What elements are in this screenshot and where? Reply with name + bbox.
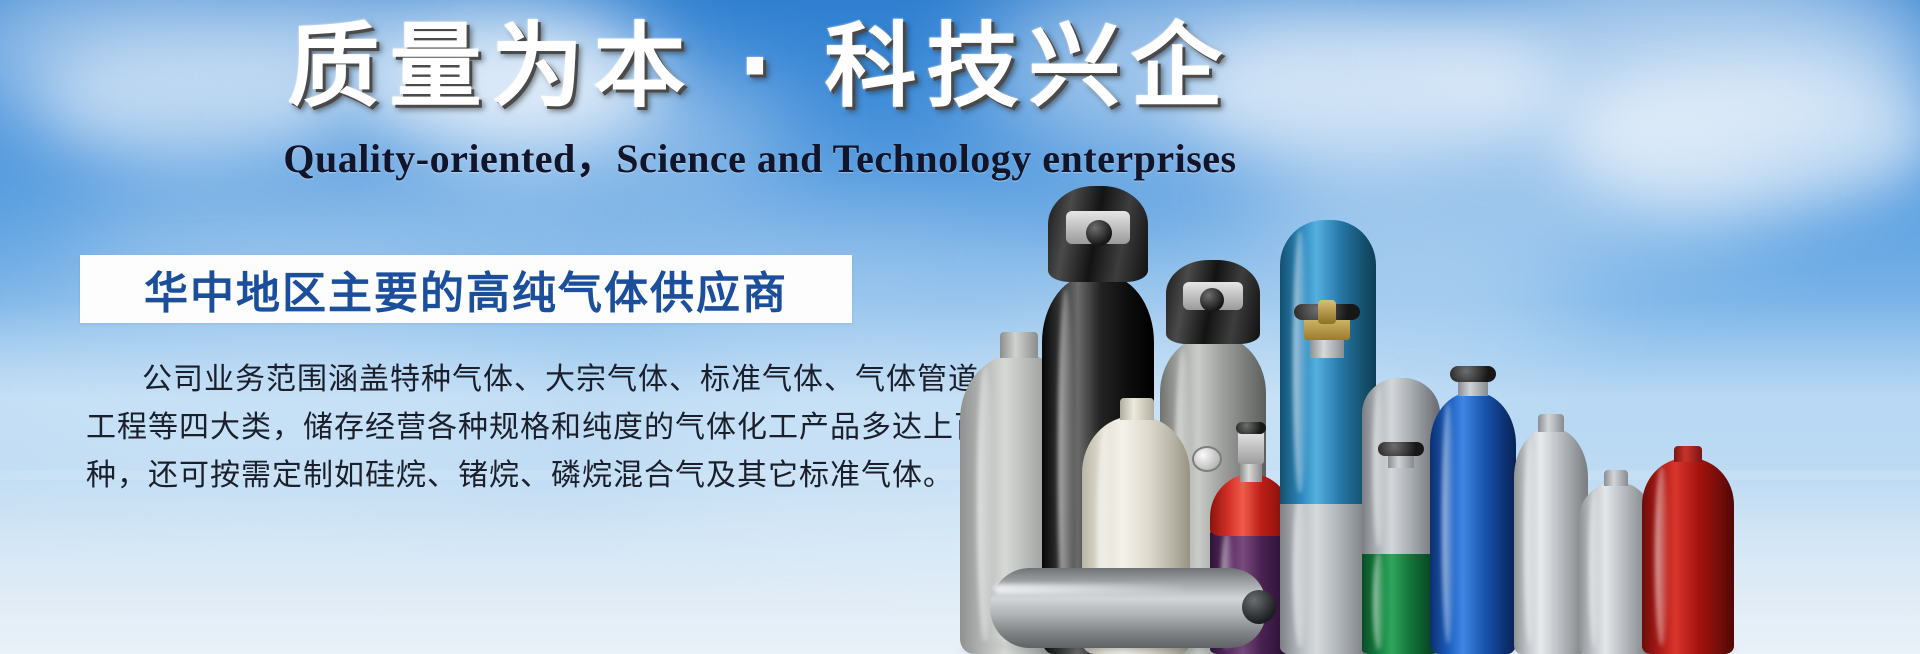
gas-cylinder-group bbox=[930, 0, 1920, 654]
highlight-tagline: 华中地区主要的高纯气体供应商 bbox=[144, 257, 788, 321]
cylinder-aluminium-a bbox=[1514, 408, 1588, 654]
cylinder-red-large bbox=[1642, 442, 1734, 654]
cylinder-green-small bbox=[1362, 444, 1440, 654]
description-line-1: 公司业务范围涵盖特种气体、大宗气体、标准气体、气体管道 bbox=[86, 356, 876, 404]
description-line-3: 种，还可按需定制如硅烷、锗烷、磷烷混合气及其它标准气体。 bbox=[86, 452, 876, 500]
cylinder-grey-lying bbox=[990, 568, 1280, 650]
hero-banner: 质量为本 · 科技兴企 Quality-oriented，Science and… bbox=[0, 0, 1920, 654]
description-line-2: 工程等四大类，储存经营各种规格和纯度的气体化工产品多达上百 bbox=[86, 404, 876, 452]
description-paragraph: 公司业务范围涵盖特种气体、大宗气体、标准气体、气体管道 工程等四大类，储存经营各… bbox=[86, 356, 876, 500]
cylinder-blue-bright bbox=[1430, 354, 1516, 654]
highlight-banner-box: 华中地区主要的高纯气体供应商 bbox=[80, 255, 852, 323]
